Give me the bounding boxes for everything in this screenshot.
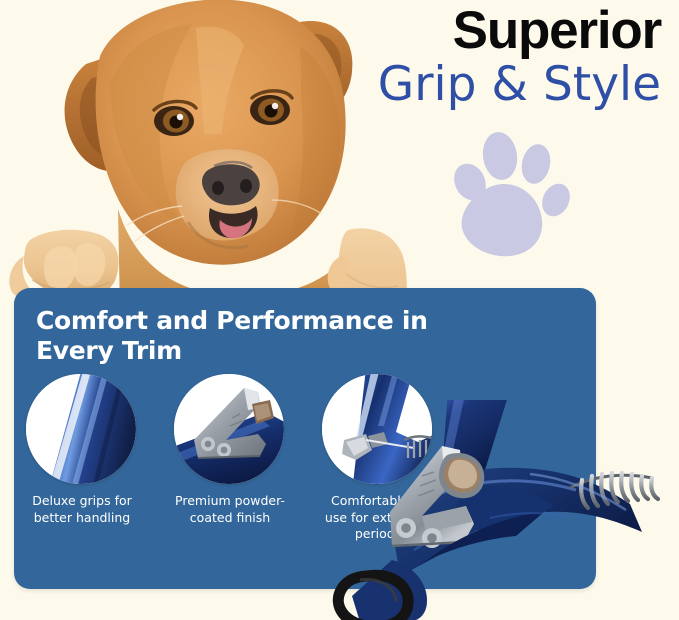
feature-card: Comfort and Performance in Every Trim — [14, 288, 596, 589]
feature-item[interactable]: Premium powder-coated finish — [174, 374, 286, 543]
cutting-head-closeup-icon — [174, 374, 284, 484]
feature-item[interactable]: Deluxe grips for better handling — [26, 374, 138, 543]
grip-closeup-icon — [26, 374, 136, 484]
promo-image-canvas: Comfort and Performance in Every Trim — [0, 0, 679, 620]
paw-print-icon — [448, 128, 576, 260]
headline-block: Superior Grip & Style — [378, 4, 661, 108]
feature-caption: Premium powder-coated finish — [174, 493, 286, 526]
clipper-arm-closeup-icon — [322, 374, 432, 484]
feature-item[interactable]: Comfortable to use for extended periods — [322, 374, 434, 543]
card-title: Comfort and Performance in Every Trim — [36, 306, 456, 365]
feature-caption: Comfortable to use for extended periods — [322, 493, 434, 543]
headline-line-2: Grip & Style — [378, 61, 661, 108]
headline-line-1: Superior — [378, 4, 661, 57]
feature-caption: Deluxe grips for better handling — [26, 493, 138, 526]
feature-list: Deluxe grips for better handling — [26, 374, 476, 543]
